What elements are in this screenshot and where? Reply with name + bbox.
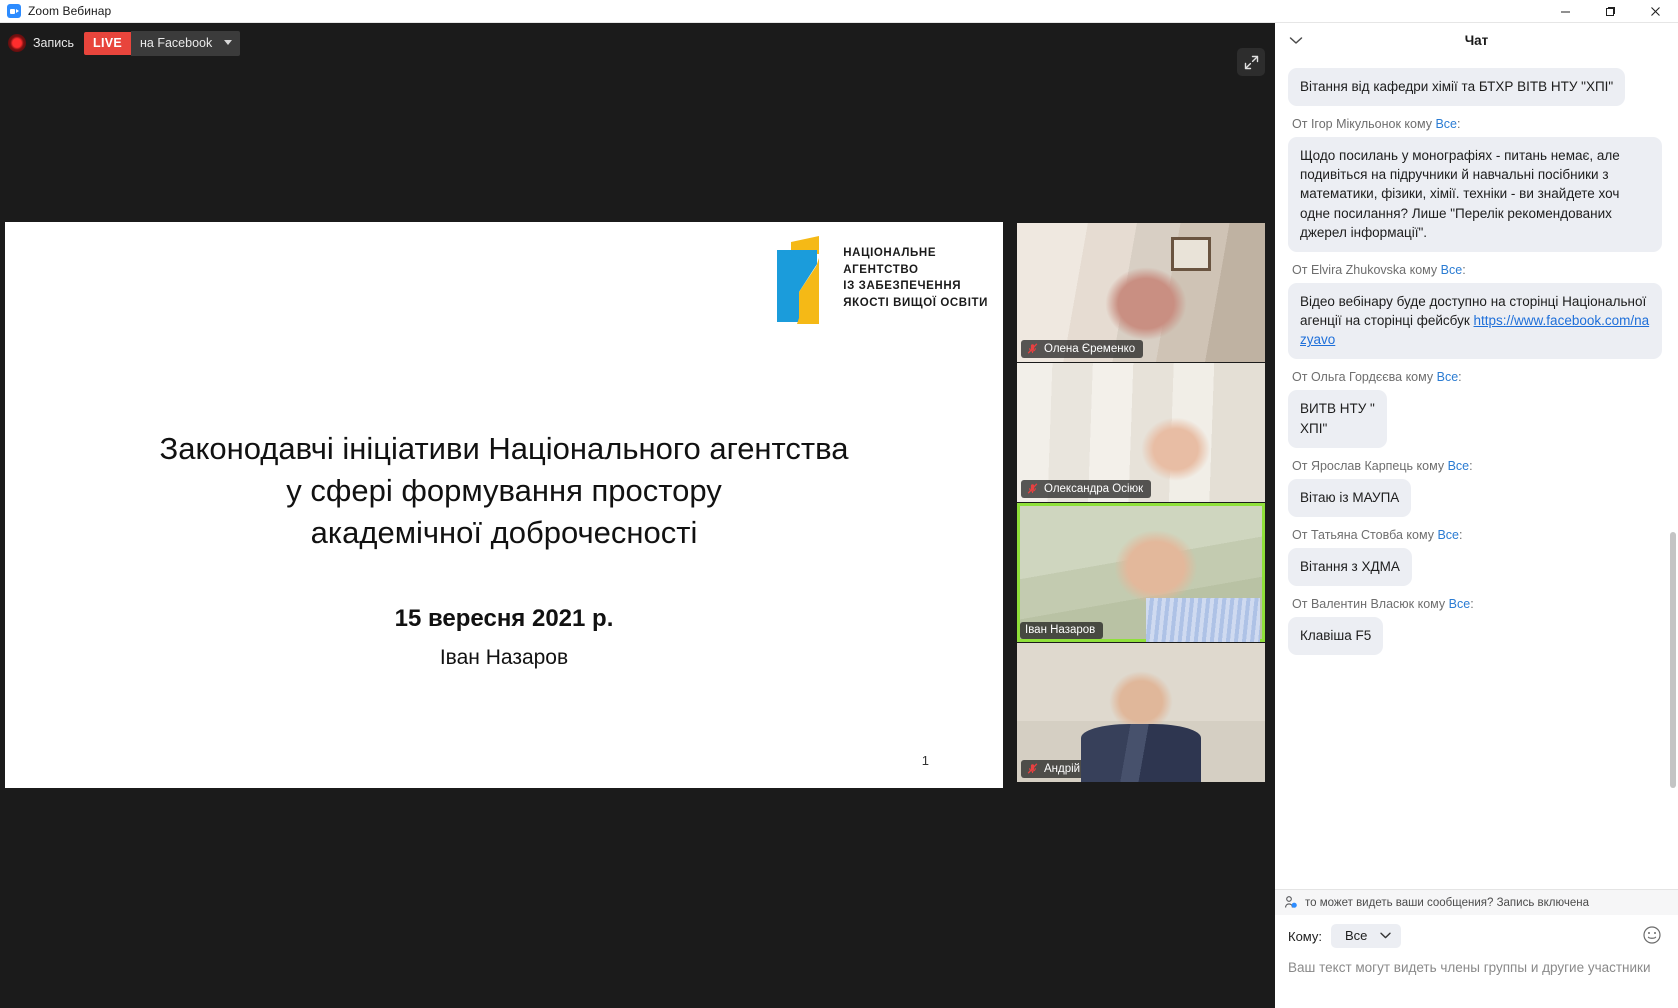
video-tile-participant-4[interactable]: Андрій Сідляренко — [1017, 643, 1265, 782]
recipient-name: Все — [1449, 597, 1471, 611]
naqa-logo-line-2: АГЕНТСТВО — [843, 263, 988, 278]
slide-title-line-3: академічної доброчесності — [65, 512, 943, 554]
video-tile-participant-1[interactable]: Олена Єременко — [1017, 223, 1265, 362]
sender-name: Ольга Гордєєва — [1311, 370, 1402, 384]
to-prefix: кому — [1417, 459, 1445, 473]
shared-slide[interactable]: НАЦІОНАЛЬНЕ АГЕНТСТВО ІЗ ЗАБЕЗПЕЧЕННЯ ЯК… — [5, 222, 1003, 788]
chat-composer: Кому: Все — [1275, 915, 1678, 1008]
live-badge: LIVE — [84, 32, 131, 55]
participant-name-badge: Олена Єременко — [1021, 340, 1143, 358]
participant-name: Андрій Сідляренко — [1044, 763, 1145, 775]
emoji-picker-button[interactable] — [1642, 925, 1664, 947]
chat-recipient-select[interactable]: Все — [1331, 924, 1401, 948]
chat-message-bubble: ВИТВ НТУ " ХПІ" — [1288, 390, 1387, 447]
chat-to-label: Кому: — [1288, 929, 1322, 944]
sender-name: Татьяна Стовба — [1311, 528, 1403, 542]
microphone-muted-icon — [1026, 762, 1039, 775]
slide-title-line-2: у сфері формування простору — [65, 470, 943, 512]
chat-scrollbar-thumb[interactable] — [1670, 532, 1676, 788]
sender-name: Ігор Мікульонок — [1311, 117, 1401, 131]
chevron-down-icon — [1380, 932, 1391, 939]
from-prefix: От — [1292, 528, 1307, 542]
slide-author: Іван Назаров — [5, 646, 1003, 670]
slide-title: Законодавчі ініціативи Національного аге… — [5, 428, 1003, 554]
recipient-name: Все — [1435, 117, 1457, 131]
chat-recipient-row: Кому: Все — [1288, 923, 1664, 949]
participant-name: Іван Назаров — [1025, 624, 1095, 636]
sender-name: Ярослав Карпець — [1311, 459, 1413, 473]
expand-arrows-icon — [1244, 55, 1259, 70]
recipient-name: Все — [1448, 459, 1470, 473]
participant-name-badge: Олександра Осіюк — [1021, 480, 1151, 498]
participant-name: Олена Єременко — [1044, 343, 1135, 355]
close-button[interactable] — [1633, 0, 1678, 23]
participant-name-badge: Іван Назаров — [1020, 622, 1103, 639]
from-prefix: От — [1292, 597, 1307, 611]
sender-name: Валентин Власюк — [1311, 597, 1414, 611]
from-prefix: От — [1292, 370, 1307, 384]
recipient-name: Все — [1437, 370, 1459, 384]
zoom-video-icon — [7, 4, 21, 18]
chat-visibility-notice-text: то может видеть ваши сообщения? Запись в… — [1305, 897, 1589, 909]
chat-message-bubble: Щодо посилань у монографіях - питань нем… — [1288, 137, 1662, 252]
chat-collapse-button[interactable] — [1285, 30, 1307, 52]
participant-video-strip: Олена Єременко Олександра Осіюк — [1017, 223, 1265, 783]
naqa-logo-line-1: НАЦІОНАЛЬНЕ — [843, 246, 988, 261]
window-body: Запись LIVE на Facebook — [0, 23, 1678, 1008]
chat-message-bubble: Клавіша F5 — [1288, 617, 1383, 655]
microphone-muted-icon — [1026, 342, 1039, 355]
from-prefix: От — [1292, 459, 1307, 473]
maximize-button[interactable] — [1588, 0, 1633, 23]
chat-message-sender: От Ігор Мікульонок кому Все: — [1292, 117, 1662, 132]
video-tile-participant-2[interactable]: Олександра Осіюк — [1017, 363, 1265, 502]
slide-title-line-1: Законодавчі ініціативи Національного аге… — [65, 428, 943, 470]
naqa-logo-mark-icon — [769, 234, 831, 326]
from-prefix: От — [1292, 263, 1307, 277]
chat-message-sender: От Валентин Власюк кому Все: — [1292, 597, 1662, 612]
recording-toolbar: Запись LIVE на Facebook — [8, 30, 240, 56]
microphone-muted-icon — [1026, 482, 1039, 495]
participant-name-badge: Андрій Сідляренко — [1021, 760, 1153, 778]
chat-message-input[interactable]: Ваш текст могут видеть члены группы и др… — [1288, 958, 1664, 998]
chat-message-bubble: Вітання від кафедри хімії та БТХР ВІТВ Н… — [1288, 68, 1625, 106]
chat-panel: Чат Вітання від кафедри хімії та БТХР ВІ… — [1275, 23, 1678, 1008]
naqa-logo-text: НАЦІОНАЛЬНЕ АГЕНТСТВО ІЗ ЗАБЕЗПЕЧЕННЯ ЯК… — [843, 234, 988, 311]
live-destination-label: на Facebook — [140, 36, 212, 50]
chevron-down-icon — [224, 40, 232, 45]
to-prefix: кому — [1406, 370, 1434, 384]
slide-page-number: 1 — [922, 753, 929, 768]
chat-title: Чат — [1275, 33, 1678, 48]
video-tile-participant-3-active-speaker[interactable]: Іван Назаров — [1017, 503, 1265, 642]
chat-recipient-value: Все — [1345, 928, 1367, 943]
to-prefix: кому — [1410, 263, 1438, 277]
slide-date: 15 вересня 2021 р. — [5, 605, 1003, 633]
window-title: Zoom Вебинар — [28, 4, 111, 18]
chat-scrollbar[interactable] — [1670, 65, 1676, 818]
recipient-name: Все — [1441, 263, 1463, 277]
participant-name: Олександра Осіюк — [1044, 483, 1143, 495]
chevron-down-icon — [1289, 36, 1303, 45]
chat-header: Чат — [1275, 23, 1678, 59]
expand-view-button[interactable] — [1237, 48, 1265, 76]
smiley-icon — [1642, 925, 1662, 945]
sender-name: Elvira Zhukovska — [1311, 263, 1406, 277]
chat-visibility-notice: то может видеть ваши сообщения? Запись в… — [1275, 889, 1678, 915]
chat-message-sender: От Elvira Zhukovska кому Все: — [1292, 263, 1662, 278]
meeting-stage: Запись LIVE на Facebook — [0, 23, 1275, 1008]
recording-indicator-icon[interactable] — [8, 34, 26, 52]
zoom-webinar-window: Zoom Вебинар — [0, 0, 1678, 1008]
chat-message-list[interactable]: Вітання від кафедри хімії та БТХР ВІТВ Н… — [1275, 59, 1678, 889]
from-prefix: От — [1292, 117, 1307, 131]
chat-message-sender: От Татьяна Стовба кому Все: — [1292, 528, 1662, 543]
live-destination-button[interactable]: на Facebook — [131, 31, 240, 56]
chat-message-bubble: Відео вебінару буде доступно на сторінці… — [1288, 283, 1662, 359]
chat-message-bubble: Вітання з ХДМА — [1288, 548, 1412, 586]
naqa-logo: НАЦІОНАЛЬНЕ АГЕНТСТВО ІЗ ЗАБЕЗПЕЧЕННЯ ЯК… — [769, 234, 988, 326]
window-controls — [1543, 0, 1678, 23]
participants-icon — [1284, 895, 1299, 910]
to-prefix: кому — [1418, 597, 1446, 611]
naqa-logo-line-4: ЯКОСТІ ВИЩОЇ ОСВІТИ — [843, 296, 988, 311]
to-prefix: кому — [1406, 528, 1434, 542]
chat-message-bubble: Вітаю із МАУПА — [1288, 479, 1411, 517]
naqa-logo-line-3: ІЗ ЗАБЕЗПЕЧЕННЯ — [843, 279, 988, 294]
chat-message-sender: От Ольга Гордєєва кому Все: — [1292, 370, 1662, 385]
to-prefix: кому — [1404, 117, 1432, 131]
recording-label: Запись — [33, 36, 74, 50]
minimize-button[interactable] — [1543, 0, 1588, 23]
recipient-name: Все — [1437, 528, 1459, 542]
title-bar: Zoom Вебинар — [0, 0, 1678, 23]
chat-message-sender: От Ярослав Карпець кому Все: — [1292, 459, 1662, 474]
